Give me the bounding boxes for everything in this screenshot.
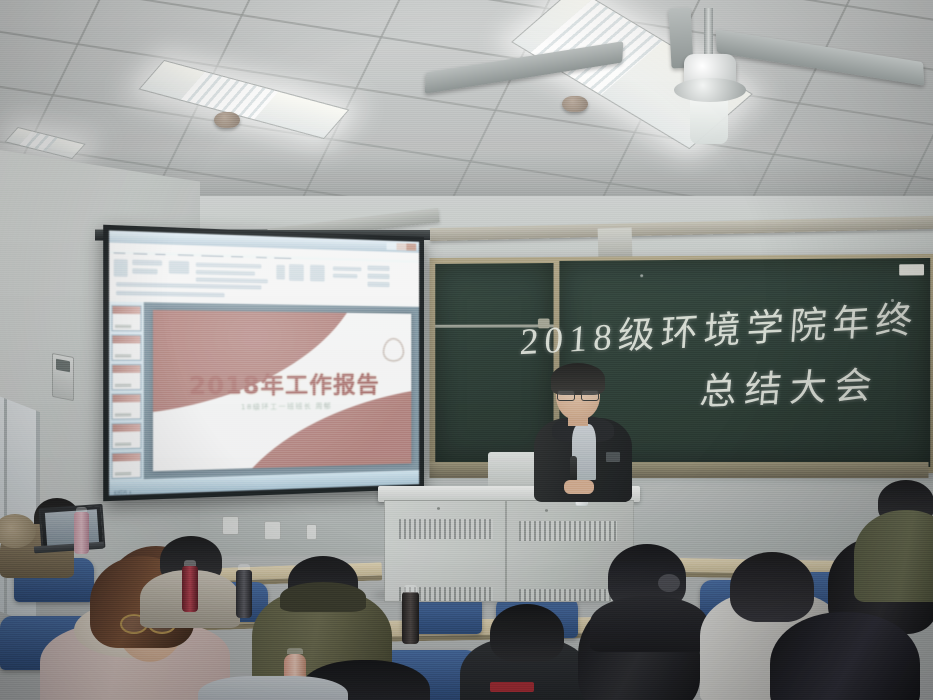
slide-thumbnail[interactable] [111,335,141,361]
ppt-status-text: 幻灯片 1 [114,489,132,495]
coat-red-trim [490,682,534,692]
smoke-detector-left [214,112,240,128]
lectern-lock-left [437,507,440,510]
blackboard-frame [430,254,933,473]
thermos-bottle[interactable] [236,570,252,618]
coat-hood [280,582,366,612]
hair-tie [658,574,680,592]
classroom-photo: 2018级环境学院年终 总结大会 [0,0,933,700]
lectern-lock-right [545,509,548,512]
student-foreground-right [770,612,933,700]
student-bottom-left [198,676,348,700]
window-controls[interactable] [387,243,417,251]
thermos-bottle[interactable] [182,566,198,612]
microphone[interactable] [570,456,577,482]
student-far-right-coat [860,480,933,590]
slide-logo-icon [382,337,404,361]
curtain-rail-mount [598,228,633,259]
wall-switch-panel[interactable] [52,353,74,401]
blackboard-divider [435,324,553,327]
wall-outlet-left[interactable] [222,516,239,535]
powerpoint-window[interactable]: 2018年工作报告 18级环工一班班长 周郁 幻灯片 1 [109,230,419,495]
slide-thumbnail[interactable] [111,423,141,450]
vent-grille-left [399,519,493,539]
slide-thumbnail[interactable] [111,364,141,390]
student-mid-right [594,544,704,634]
slide-thumbnail[interactable] [111,305,141,332]
thermos-bottle[interactable] [402,592,419,644]
student-coat [590,596,708,652]
student-hair [490,604,564,662]
ppt-slide-thumbnails[interactable] [109,302,144,481]
blackboard-clip [538,318,550,328]
screen-border: 2018年工作报告 18级环工一班班长 周郁 幻灯片 1 [103,225,424,502]
student-hair [770,612,920,700]
ppt-slide-stage: 2018年工作报告 18级环工一班班长 周郁 [144,302,419,479]
wall-outlet-center[interactable] [264,521,281,540]
projection-screen: 2018年工作报告 18级环工一班班长 周郁 幻灯片 1 [103,225,424,502]
lectern-door-gap [505,501,507,601]
presenter-jacket-patch [606,452,620,462]
fan-hub [674,78,746,102]
slide-thumbnail[interactable] [111,452,141,479]
slide-title: 2018年工作报告 [153,368,412,403]
blackboard-sticker [899,264,924,275]
student-coat [198,676,348,700]
fan-downrod [704,8,713,60]
vent-grille-right [519,521,617,541]
glasses-icon [557,390,599,399]
presenter-hands [564,480,594,494]
presenter [528,368,638,498]
thermos-bottle[interactable] [74,512,89,554]
slide-thumbnail[interactable] [111,393,141,420]
ceiling-fan [600,10,820,130]
wall-outlet-right[interactable] [306,524,317,540]
ppt-ribbon[interactable] [109,253,419,307]
window-mullion [4,398,7,614]
current-slide: 2018年工作报告 18级环工一班班长 周郁 [153,309,412,471]
smoke-detector-right [562,96,588,112]
fan-light-shade [690,96,728,144]
student-coat [854,510,933,602]
